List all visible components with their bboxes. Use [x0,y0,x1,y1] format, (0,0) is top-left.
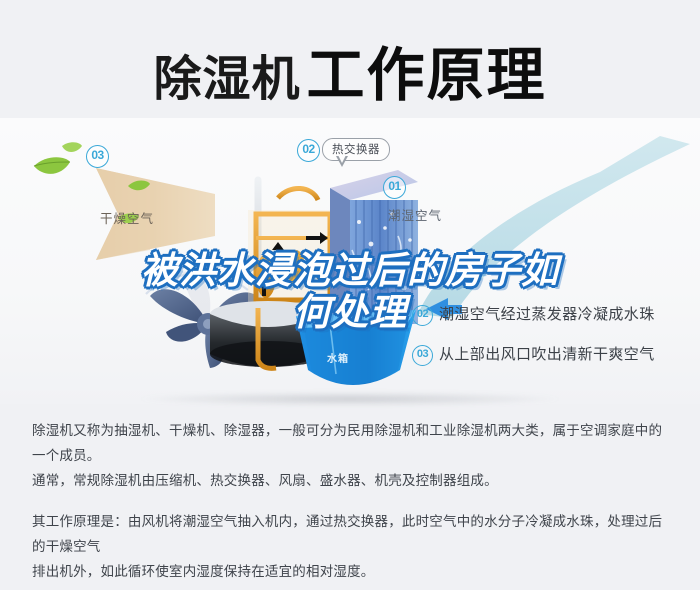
step-badge-03: 03 [412,345,433,366]
callout-heat-exchanger: 热交换器 [322,138,390,161]
label-water-tank: 水箱 [327,350,349,365]
page-root: 除湿机工作原理 [0,0,700,566]
water-tank [296,310,416,385]
step-badge-02: 02 [412,305,433,326]
step-note-03: 03从上部出风口吹出清新干爽空气 [412,343,655,366]
board-shadow [140,392,560,406]
paragraph-2: 其工作原理是：由风机将潮湿空气抽入机内，通过热交换器，此时空气中的水分子冷凝成水… [32,509,672,584]
step-note-02: 02潮湿空气经过蒸发器冷凝成水珠 [412,303,655,326]
page-title: 除湿机工作原理 [0,28,700,112]
para1-line1: 除湿机又称为抽湿机、干燥机、除湿器，一般可分为民用除湿机和工业除湿机两大类，属于… [32,423,662,463]
step-text-03: 从上部出风口吹出清新干爽空气 [439,346,655,363]
callout-tail-icon [336,156,348,167]
para2-line2: 排出机外，如此循环使室内湿度保持在适宜的相对湿度。 [32,564,375,579]
label-humid-air: 潮湿空气 [388,205,442,224]
badge-03: 03 [86,145,109,168]
badge-01: 01 [383,176,406,199]
title-part-2: 工作原理 [307,43,547,108]
para2-line1: 其工作原理是：由风机将潮湿空气抽入机内，通过热交换器，此时空气中的水分子冷凝成水… [32,514,662,554]
title-part-1: 除湿机 [153,53,300,106]
badge-02: 02 [297,139,320,162]
paragraph-gap [32,499,672,509]
para1-line2: 通常，常规除湿机由压缩机、热交换器、风扇、盛水器、机壳及控制器组成。 [32,473,498,488]
step-text-02: 潮湿空气经过蒸发器冷凝成水珠 [439,306,655,323]
label-dry-air: 干燥空气 [100,208,154,227]
body-copy: 除湿机又称为抽湿机、干燥机、除湿器，一般可分为民用除湿机和工业除湿机两大类，属于… [32,418,672,590]
paragraph-1: 除湿机又称为抽湿机、干燥机、除湿器，一般可分为民用除湿机和工业除湿机两大类，属于… [32,418,672,493]
humid-air-swoosh [418,136,690,318]
refrigerant-circuit [248,180,340,306]
heat-exchanger-block [330,170,418,324]
